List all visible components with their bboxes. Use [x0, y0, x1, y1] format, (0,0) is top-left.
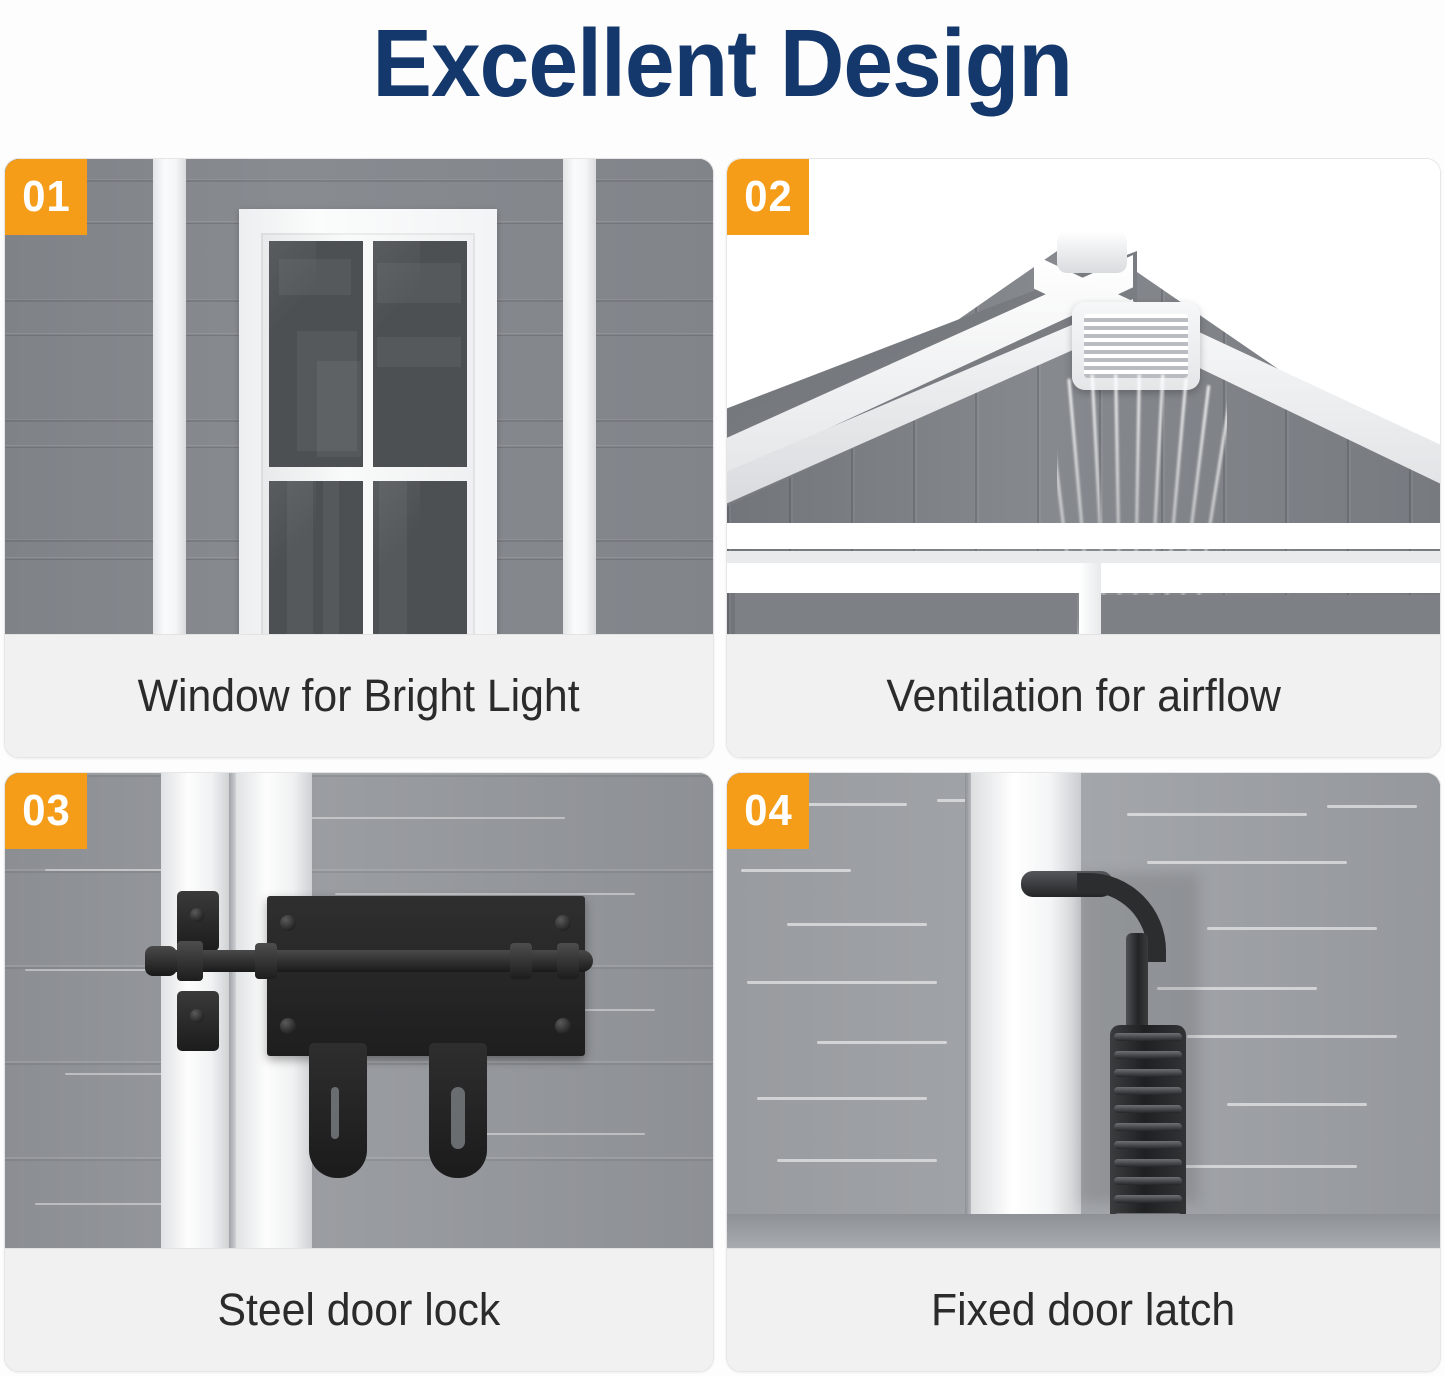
feature-caption-text: Steel door lock [218, 1284, 501, 1336]
badge-number: 01 [22, 175, 70, 219]
feature-caption-text: Window for Bright Light [138, 670, 580, 722]
badge-number: 02 [744, 175, 792, 219]
page-title: Excellent Design [0, 4, 1445, 124]
feature-caption-01: Window for Bright Light [5, 634, 713, 757]
feature-card-02[interactable]: 02 Ventilation for airflow [726, 158, 1441, 758]
window-frame [239, 209, 497, 634]
lock-hasp-left [309, 1043, 367, 1178]
feature-badge-02: 02 [727, 159, 809, 235]
feature-card-03[interactable]: 03 Steel door lock [4, 772, 714, 1372]
page-title-text: Excellent Design [373, 16, 1073, 112]
vent-louvers [1084, 314, 1188, 378]
feature-caption-02: Ventilation for airflow [727, 634, 1440, 757]
lock-hasp-right [429, 1043, 487, 1178]
product-feature-grid: Excellent Design [0, 0, 1445, 1376]
feature-caption-03: Steel door lock [5, 1248, 713, 1371]
feature-image-door-lock: 03 [5, 773, 713, 1248]
feature-caption-04: Fixed door latch [727, 1248, 1440, 1371]
lock-mounting-plate [267, 896, 585, 1056]
feature-card-01[interactable]: 01 Window for Bright Light [4, 158, 714, 758]
feature-image-door-latch: 04 [727, 773, 1440, 1248]
feature-card-grid: 01 Window for Bright Light [4, 158, 1441, 1372]
feature-image-window: 01 [5, 159, 713, 634]
feature-badge-03: 03 [5, 773, 87, 849]
feature-image-vent: 02 [727, 159, 1440, 634]
feature-caption-text: Ventilation for airflow [886, 670, 1280, 722]
badge-number: 03 [22, 789, 70, 833]
feature-badge-01: 01 [5, 159, 87, 235]
door-frame-trim [971, 773, 1081, 1248]
badge-number: 04 [744, 789, 792, 833]
feature-badge-04: 04 [727, 773, 809, 849]
feature-caption-text: Fixed door latch [931, 1284, 1235, 1336]
feature-card-04[interactable]: 04 Fixed door latch [726, 772, 1441, 1372]
